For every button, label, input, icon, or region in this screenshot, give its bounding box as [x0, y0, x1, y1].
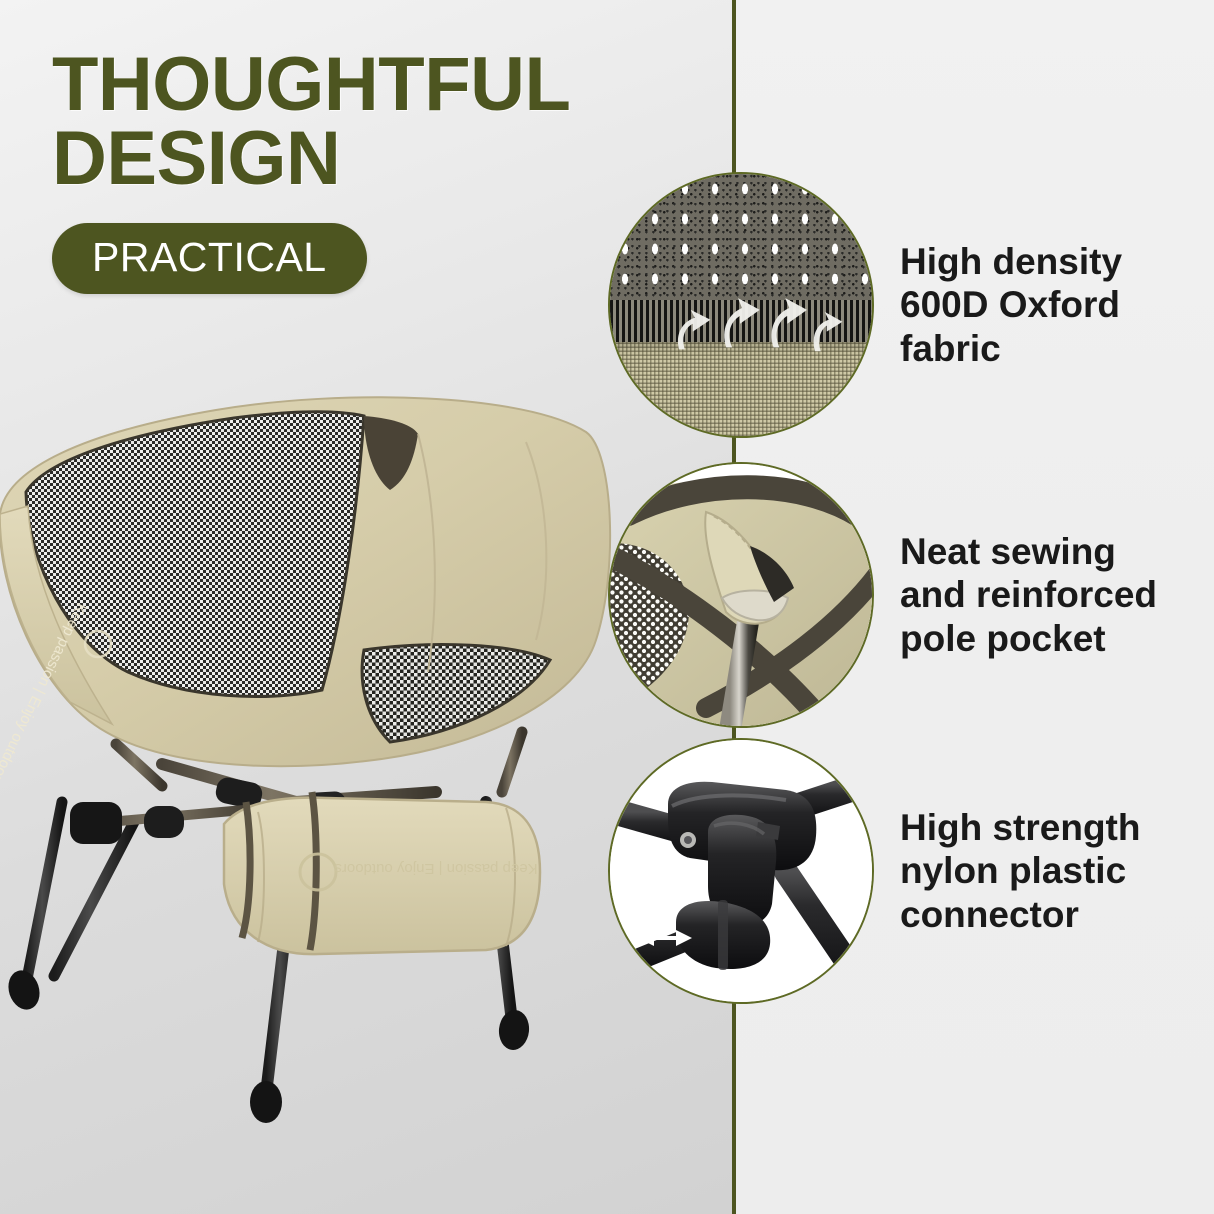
headline-block: THOUGHTFUL DESIGN PRACTICAL — [52, 48, 652, 294]
feature-label-line-2: and reinforced — [900, 573, 1200, 616]
chair-frame-crossbar — [162, 764, 436, 802]
chair-product-photo: Keep passion | Enjoy outdoors — [0, 372, 656, 1162]
chair-leg-left — [54, 822, 134, 976]
frame-connector-left — [70, 802, 122, 844]
connector-illustration — [610, 740, 874, 1004]
feature-image-pole-pocket — [608, 462, 874, 728]
feature-label-line-1: High strength — [900, 806, 1200, 849]
feature-label-line-1: Neat sewing — [900, 530, 1200, 573]
page-title: THOUGHTFUL DESIGN — [52, 48, 652, 197]
chair-leg-rear-left — [26, 802, 62, 984]
feature-label-connector: High strength nylon plastic connector — [900, 806, 1200, 936]
frame-clamp-left — [144, 806, 184, 838]
storage-bag-embroidery-text: Keep passion | Enjoy outdoors — [334, 860, 537, 877]
feature-image-connector — [608, 738, 874, 1004]
title-line-2: DESIGN — [52, 122, 652, 196]
chair-foot-right — [497, 1009, 531, 1052]
chair-frame-link-right — [502, 732, 522, 792]
product-infographic: THOUGHTFUL DESIGN PRACTICAL — [0, 0, 1214, 1214]
chair-foot-center — [250, 1081, 282, 1123]
feature-label-line-3: connector — [900, 893, 1200, 936]
feature-row-sewing: Neat sewing and reinforced pole pocket — [608, 462, 1200, 728]
feature-label-fabric: High density 600D Oxford fabric — [900, 240, 1200, 370]
feature-label-line-3: fabric — [900, 327, 1200, 370]
feature-label-line-2: 600D Oxford — [900, 283, 1200, 326]
feature-row-fabric: High density 600D Oxford fabric — [608, 172, 1200, 438]
feature-label-line-3: pole pocket — [900, 617, 1200, 660]
feature-row-connector: High strength nylon plastic connector — [608, 738, 1200, 1004]
feature-label-sewing: Neat sewing and reinforced pole pocket — [900, 530, 1200, 660]
pole-pocket-illustration — [610, 464, 874, 728]
storage-bag: Keep passion | Enjoy outdoors — [224, 792, 540, 954]
status-badge: PRACTICAL — [52, 223, 367, 294]
feature-label-line-1: High density — [900, 240, 1200, 283]
title-line-1: THOUGHTFUL — [52, 42, 570, 127]
chair-illustration: Keep passion | Enjoy outdoors — [0, 372, 656, 1162]
feature-label-line-2: nylon plastic — [900, 849, 1200, 892]
chair-foot-rear-left — [4, 966, 45, 1013]
